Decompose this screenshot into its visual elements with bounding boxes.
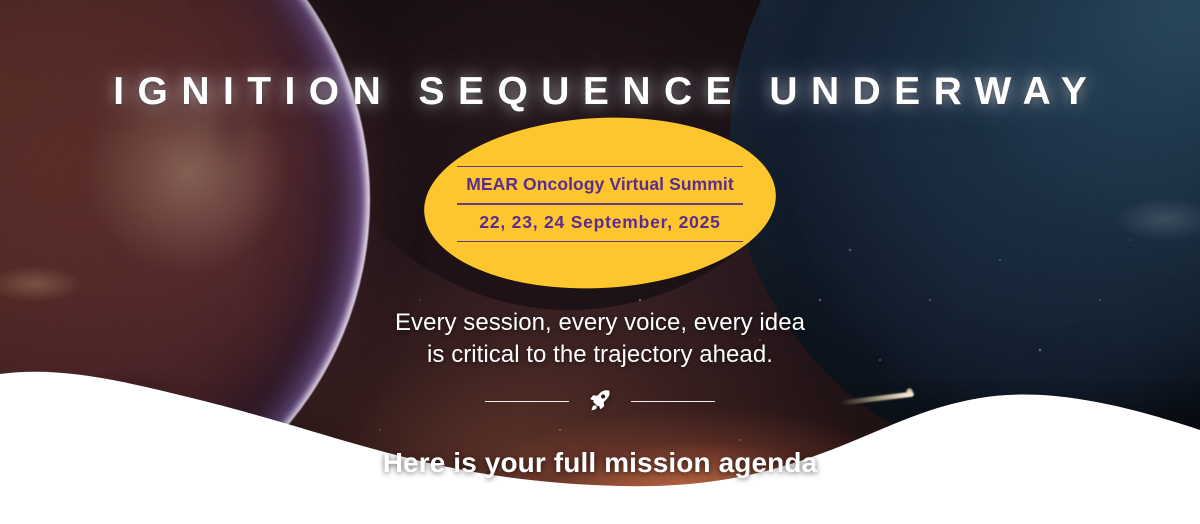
rocket-divider [0,388,1200,414]
banner-content: IGNITION SEQUENCE UNDERWAY MEAR Oncology… [0,0,1200,524]
tagline-line-2: is critical to the trajectory ahead. [0,339,1200,371]
rocket-icon [587,388,613,414]
divider-rule-left [485,401,569,402]
badge-rule-top [457,166,743,168]
summit-badge-inner: MEAR Oncology Virtual Summit 22, 23, 24 … [424,118,776,288]
summit-name: MEAR Oncology Virtual Summit [466,167,734,203]
summit-badge: MEAR Oncology Virtual Summit 22, 23, 24 … [420,109,780,297]
badge-rule-middle [457,203,743,205]
divider-rule-right [631,401,715,402]
tagline-line-1: Every session, every voice, every idea [0,307,1200,339]
page-title: IGNITION SEQUENCE UNDERWAY [0,72,1200,111]
tagline: Every session, every voice, every idea i… [0,307,1200,371]
event-hero-banner: IGNITION SEQUENCE UNDERWAY MEAR Oncology… [0,0,1200,524]
badge-rule-bottom [457,241,743,243]
cta-heading: Here is your full mission agenda [0,447,1200,479]
summit-dates: 22, 23, 24 September, 2025 [479,205,720,241]
